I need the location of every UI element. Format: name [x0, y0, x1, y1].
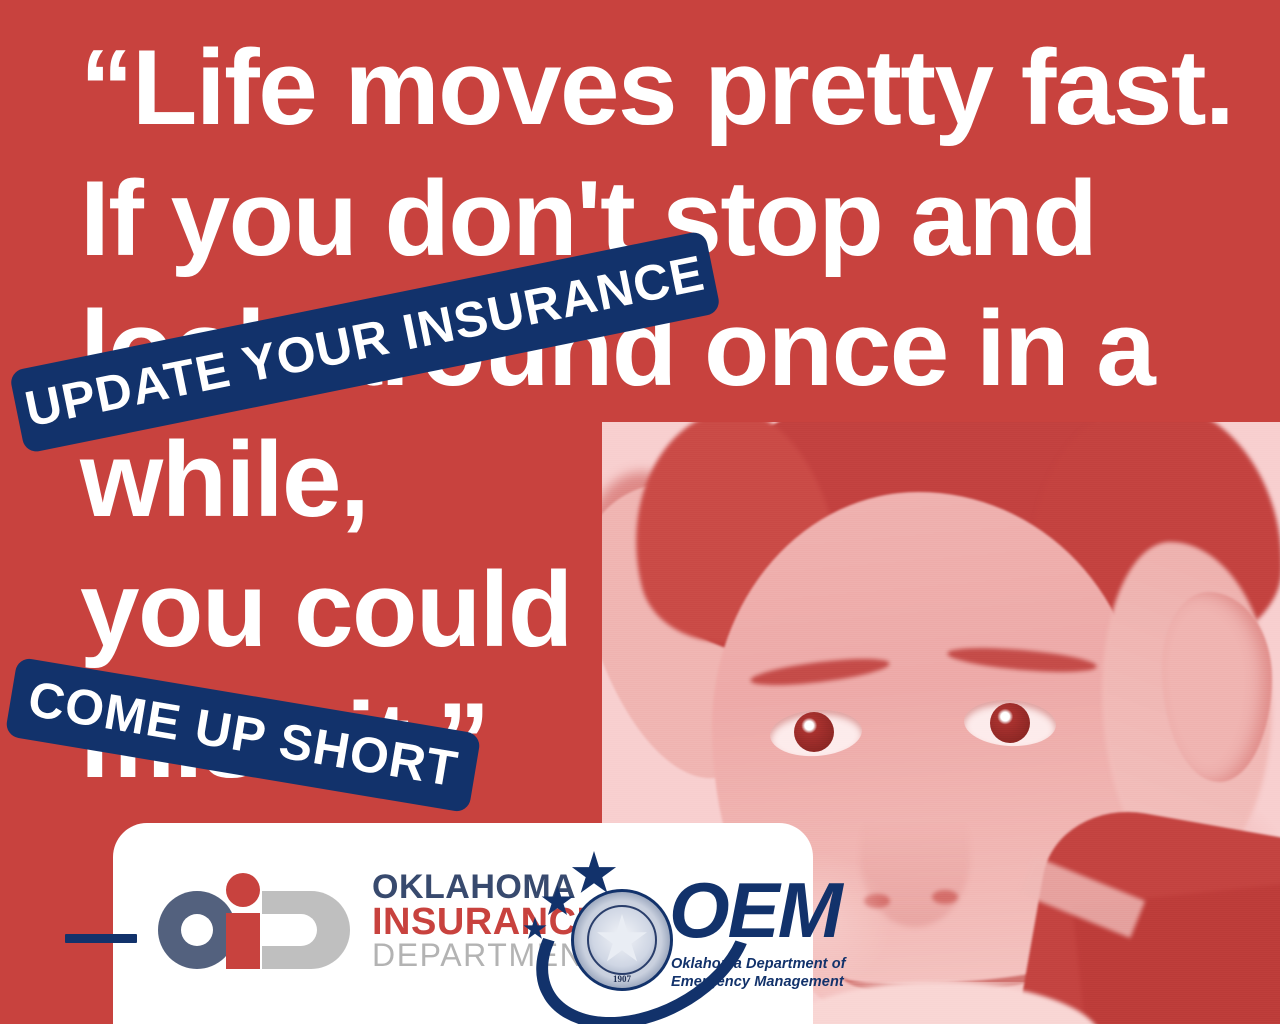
- oid-letter-i-stem-icon: [226, 913, 260, 969]
- logo-card: OKLAHOMA INSURANCE DEPARTMENT 1907 OEM O…: [113, 823, 813, 1024]
- seal-star-icon: [596, 914, 648, 966]
- oem-tagline-line-2: Emergency Management: [671, 974, 844, 990]
- oid-letter-i-dot-icon: [226, 873, 260, 907]
- banner-update-your-insurance: UPDATE YOUR INSURANCE: [9, 230, 721, 454]
- oem-logo: 1907 OEM Oklahoma Department of Emergenc…: [523, 845, 813, 1005]
- oid-letter-d-counter: [262, 914, 317, 946]
- oem-star-small-icon: [523, 917, 547, 941]
- oklahoma-state-seal-icon: 1907: [571, 889, 673, 991]
- oem-star-medium-icon: [541, 885, 574, 918]
- navy-dash-accent: [65, 934, 137, 943]
- oem-tagline-line-1: Oklahoma Department of: [671, 956, 846, 972]
- quote-line-1: “Life moves pretty fast.: [80, 22, 1270, 153]
- oem-tagline: Oklahoma Department of Emergency Managem…: [671, 955, 871, 991]
- poster-canvas: “Life moves pretty fast. If you don't st…: [0, 0, 1280, 1024]
- oem-acronym: OEM: [669, 875, 841, 945]
- oid-letter-o-counter: [181, 914, 213, 946]
- seal-inner-disc: [587, 905, 657, 975]
- seal-year: 1907: [613, 974, 631, 984]
- banner-come-up-short: COME UP SHORT: [5, 657, 482, 813]
- oid-monogram-icon: [158, 873, 358, 969]
